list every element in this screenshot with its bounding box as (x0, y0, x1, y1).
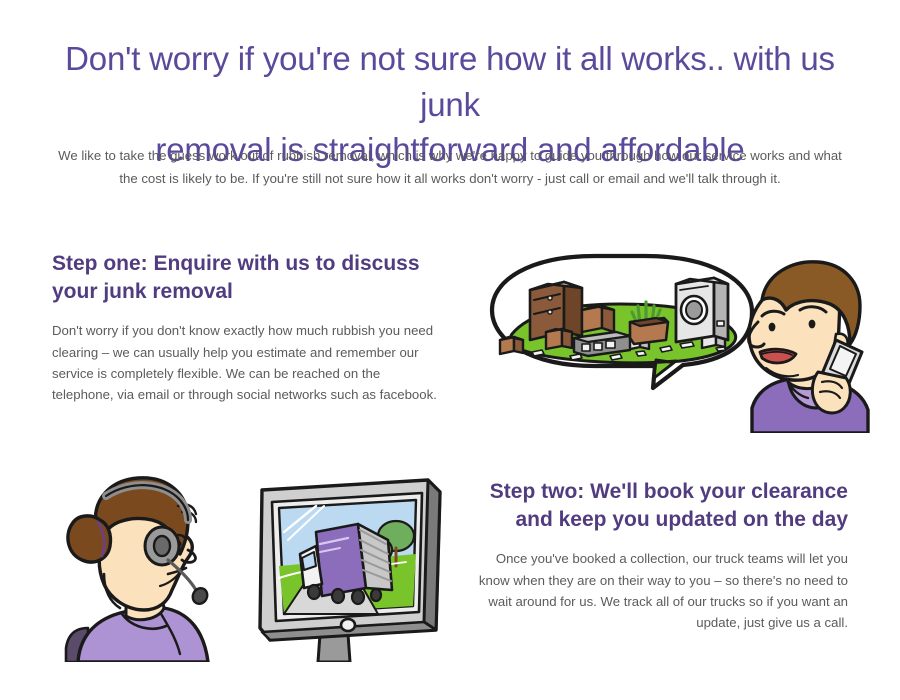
monitor-power-button (341, 619, 355, 631)
step-two-heading: Step two: We'll book your clearance and … (463, 478, 848, 534)
stereo (574, 332, 630, 356)
microphone-boom (190, 586, 210, 607)
washing-machine (676, 278, 728, 342)
intro-section: We like to take the guess work out of ru… (52, 145, 848, 190)
step-one-heading: Step one: Enquire with us to discuss you… (52, 250, 437, 306)
step-two-body: Once you've booked a collection, our tru… (463, 548, 848, 634)
call-operator-with-truck-monitor-illustration (48, 462, 453, 662)
hand (812, 372, 850, 413)
page-root: Don't worry if you're not sure how it al… (0, 0, 900, 700)
step-two-block: Step two: We'll book your clearance and … (463, 478, 848, 634)
man-on-phone-with-junk-thought-bubble-illustration (470, 248, 870, 433)
step-one-body: Don't worry if you don't know exactly ho… (52, 320, 437, 406)
monitor (260, 480, 440, 662)
monitor-screen (279, 500, 416, 614)
intro-paragraph: We like to take the guess work out of ru… (52, 145, 848, 190)
step-one-block: Step one: Enquire with us to discuss you… (52, 250, 437, 406)
